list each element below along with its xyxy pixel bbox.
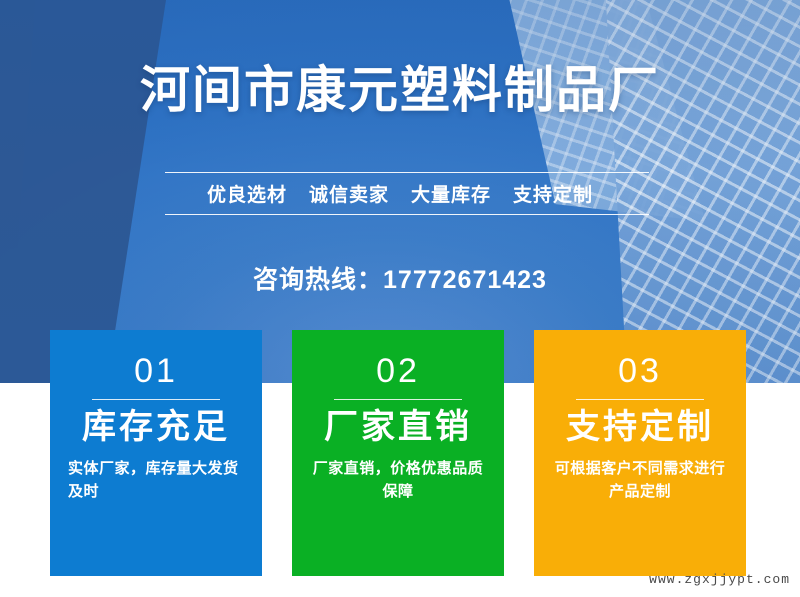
feature-card-2-title: 厂家直销 — [306, 407, 490, 447]
slogan-item-1: 优良选材 — [207, 185, 287, 206]
site-watermark: www.zgxjjypt.com — [649, 572, 790, 587]
building-right-secondary-decoration — [470, 0, 740, 271]
company-headline: 河间市康元塑料制品厂 — [0, 50, 800, 122]
hotline-text: 咨询热线：17772671423 — [0, 260, 800, 296]
feature-card-2-divider — [334, 399, 462, 400]
feature-card-list: 01 库存充足 实体厂家，库存量大发货及时 02 厂家直销 厂家直销，价格优惠品… — [50, 330, 746, 576]
feature-card-3-divider — [576, 399, 704, 400]
promo-banner: 河间市康元塑料制品厂 优良选材诚信卖家大量库存支持定制 咨询热线：1777267… — [0, 0, 800, 597]
feature-card-1-number: 01 — [64, 354, 248, 388]
feature-card-3: 03 支持定制 可根据客户不同需求进行产品定制 — [534, 330, 746, 576]
slogan-item-3: 大量库存 — [411, 185, 491, 206]
feature-card-2: 02 厂家直销 厂家直销，价格优惠品质保障 — [292, 330, 504, 576]
slogan-item-4: 支持定制 — [513, 185, 593, 206]
feature-card-3-desc: 可根据客户不同需求进行产品定制 — [548, 457, 732, 504]
feature-card-2-desc: 厂家直销，价格优惠品质保障 — [306, 457, 490, 504]
feature-card-1-desc: 实体厂家，库存量大发货及时 — [64, 457, 248, 504]
feature-card-1: 01 库存充足 实体厂家，库存量大发货及时 — [50, 330, 262, 576]
feature-card-1-divider — [92, 399, 220, 400]
building-left-edge-decoration — [0, 0, 91, 285]
slogan-item-2: 诚信卖家 — [309, 185, 389, 206]
feature-card-3-number: 03 — [548, 354, 732, 388]
feature-card-2-number: 02 — [306, 354, 490, 388]
slogan-rule-top — [165, 172, 649, 173]
slogan-row: 优良选材诚信卖家大量库存支持定制 — [0, 180, 800, 207]
feature-card-1-title: 库存充足 — [64, 407, 248, 447]
feature-card-3-title: 支持定制 — [548, 407, 732, 447]
slogan-rule-bottom — [165, 214, 649, 215]
